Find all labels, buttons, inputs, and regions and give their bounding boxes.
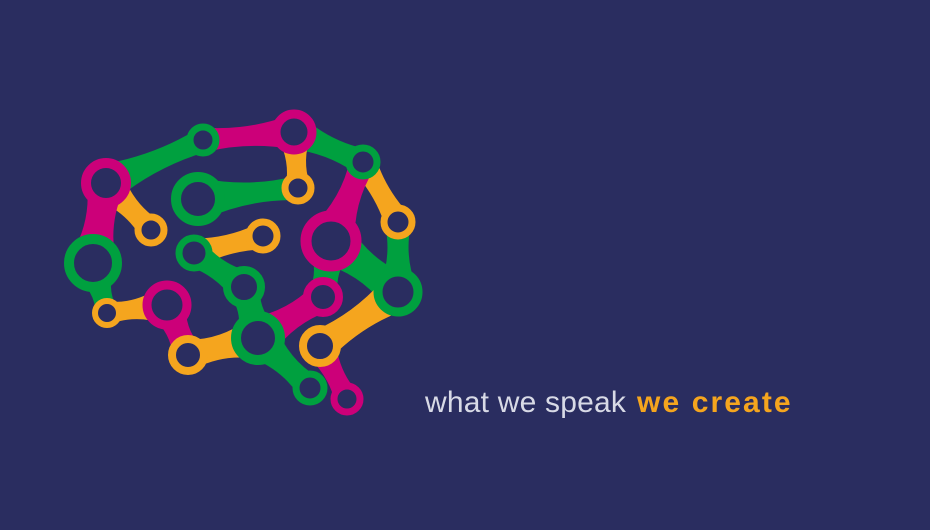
tagline-light-text: what we speak	[425, 386, 626, 420]
brain-node-ring	[306, 216, 356, 266]
brand-tagline: what we speak we create	[425, 386, 793, 426]
brain-node-ring	[227, 270, 261, 304]
brain-node-ring	[303, 329, 337, 363]
brain-node-ring	[172, 339, 204, 371]
brain-node-ring	[138, 217, 164, 243]
brain-node-ring	[349, 148, 377, 176]
brain-node-ring	[334, 386, 360, 412]
tagline-accent-text: we create	[637, 386, 793, 420]
splash-canvas: what we speak we create	[0, 0, 930, 530]
brain-network-logo	[55, 95, 435, 440]
brain-node-ring	[249, 222, 277, 250]
brain-node-ring	[179, 238, 209, 268]
brain-node-ring	[276, 114, 312, 150]
brain-node-ring	[236, 316, 280, 360]
brain-node-ring	[86, 163, 126, 203]
brain-node-ring	[95, 301, 119, 325]
brain-node-ring	[285, 175, 311, 201]
brain-node-ring	[384, 208, 412, 236]
brain-node-ring	[190, 127, 216, 153]
brain-node-ring	[176, 177, 220, 221]
brain-node-ring	[296, 374, 324, 402]
brain-node-ring	[307, 281, 339, 313]
brain-node-ring	[69, 239, 117, 287]
brain-node-ring	[147, 285, 187, 325]
brain-node-ring	[378, 272, 418, 312]
brain-network-svg	[55, 95, 435, 440]
